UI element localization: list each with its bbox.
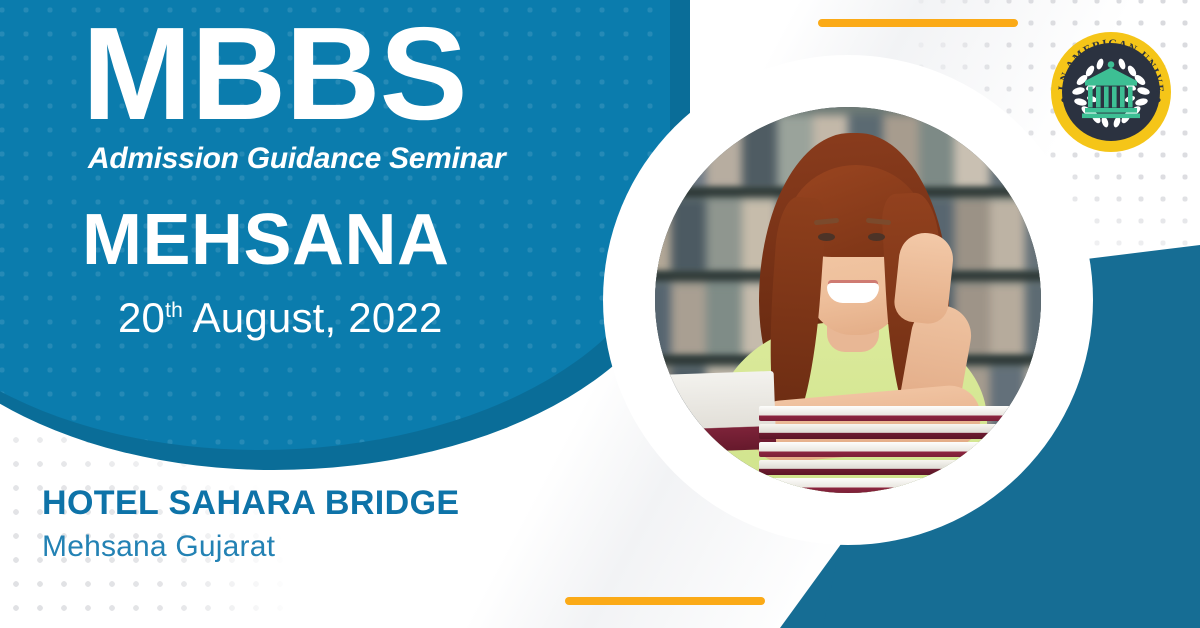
event-date-day: 20 (118, 294, 165, 341)
book (759, 460, 1041, 475)
student-photo (655, 107, 1041, 493)
page-title: MBBS (82, 8, 467, 140)
venue-name: HOTEL SAHARA BRIDGE (42, 485, 460, 522)
book (759, 406, 1041, 421)
book (759, 478, 1041, 493)
venue-block: HOTEL SAHARA BRIDGE Mehsana Gujarat (42, 485, 460, 564)
event-date-rest: August, 2022 (183, 294, 442, 341)
orange-accent-bar-bottom-icon (565, 597, 765, 605)
book (759, 442, 1041, 457)
event-date: 20th August, 2022 (118, 294, 443, 342)
smile (827, 283, 879, 303)
orange-accent-bar-top-icon (818, 19, 1018, 27)
hand (892, 230, 955, 325)
seminar-subtitle: Admission Guidance Seminar (88, 142, 505, 176)
book (759, 424, 1041, 439)
book-stack (759, 403, 1041, 493)
eye-left (818, 233, 835, 241)
eye-right (868, 233, 885, 241)
event-date-ordinal: th (165, 299, 183, 322)
city-title: MEHSANA (82, 204, 450, 276)
venue-location: Mehsana Gujarat (42, 530, 460, 564)
mbbs-seminar-banner: MBBS Admission Guidance Seminar MEHSANA … (0, 0, 1200, 628)
lincoln-american-university-logo-icon: LINCOLN AMERICAN UNIVERSITY LAU (1049, 30, 1173, 154)
